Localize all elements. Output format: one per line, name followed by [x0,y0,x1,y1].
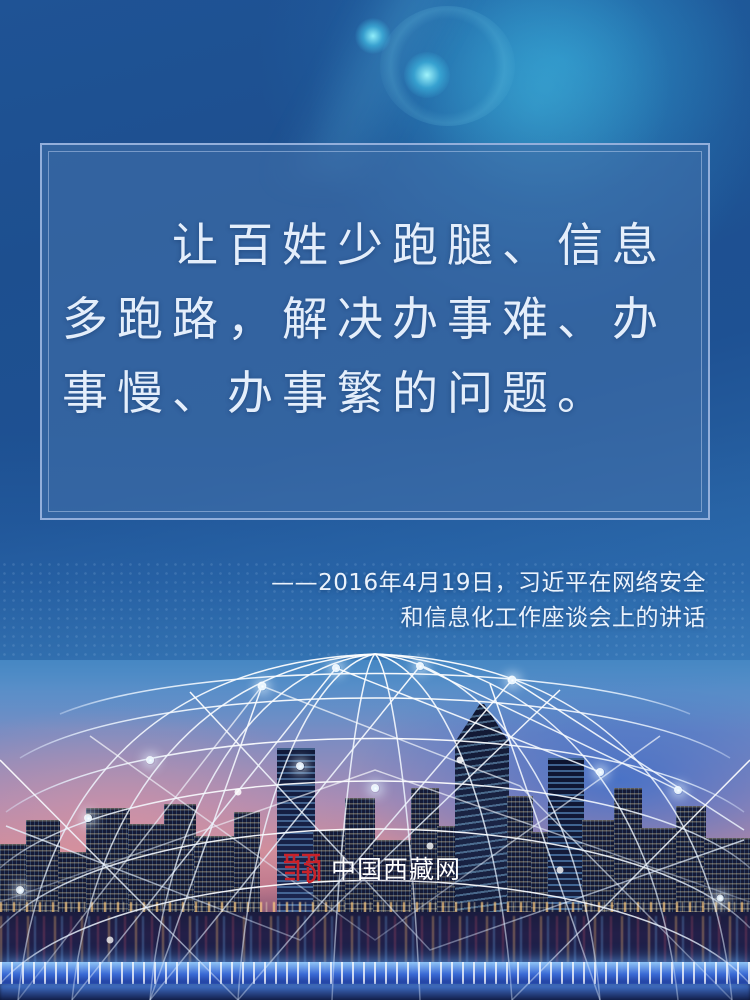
building-block [86,808,130,916]
building-block [676,806,706,916]
mesh-node [16,886,25,895]
mesh-node [258,682,267,691]
mesh-node [146,756,155,765]
mesh-node [508,676,517,685]
mesh-node [596,768,605,777]
building-block [507,796,533,916]
china-tibet-net-seal-icon [282,851,322,885]
mesh-node [716,894,725,903]
mesh-node [371,784,380,793]
building-tower-left [277,748,315,916]
illuminated-bridge [0,962,750,984]
building-block [164,804,196,916]
building-tower-center [455,704,509,916]
building-block [614,788,642,916]
city-skyline-image [0,660,750,1000]
mesh-node [674,786,683,795]
mesh-node [332,664,341,673]
mesh-node [416,662,425,671]
quote-text: 让百姓少跑腿、信息多跑路，解决办事难、办事慢、办事繁的问题。 [62,208,692,430]
mesh-node [296,762,305,771]
site-logo-text: 中国西藏网 [331,850,461,886]
city-top-fade [0,660,750,730]
site-logo[interactable]: 中国西藏网 [282,850,461,886]
attribution-line-2: 和信息化工作座谈会上的讲话 [0,601,706,636]
attribution-line-1: ——2016年4月19日，习近平在网络安全 [0,566,706,601]
attribution: ——2016年4月19日，习近平在网络安全 和信息化工作座谈会上的讲话 [0,566,706,636]
building-tower-right [548,758,584,916]
building-block [234,812,260,916]
poster-root: 让百姓少跑腿、信息多跑路，解决办事难、办事慢、办事繁的问题。 ——2016年4月… [0,0,750,1000]
bridge-reflection [0,984,750,1000]
mesh-node [84,814,93,823]
